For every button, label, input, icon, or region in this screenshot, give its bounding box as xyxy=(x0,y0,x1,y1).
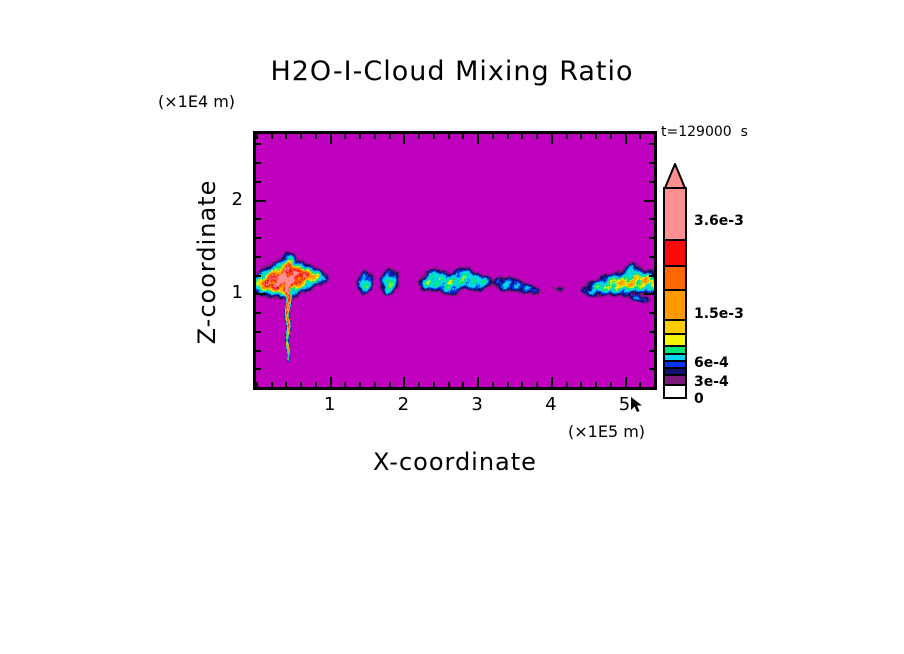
tick-mark xyxy=(639,134,641,139)
colorbar-segment xyxy=(665,362,685,369)
tick-mark xyxy=(330,134,332,144)
tick-mark xyxy=(256,143,261,145)
colorbar-segment xyxy=(665,291,685,321)
tick-mark xyxy=(595,134,597,139)
tick-mark xyxy=(359,382,361,387)
tick-mark xyxy=(649,237,654,239)
tick-mark xyxy=(580,382,582,387)
contour-field-canvas xyxy=(256,134,654,387)
tick-mark xyxy=(285,134,287,139)
tick-mark xyxy=(344,382,346,387)
colorbar-segment xyxy=(665,369,685,376)
tick-mark xyxy=(649,143,654,145)
colorbar-segment xyxy=(665,335,685,347)
tick-mark xyxy=(285,382,287,387)
tick-mark xyxy=(374,134,376,139)
tick-mark xyxy=(649,162,654,164)
tick-mark xyxy=(492,134,494,139)
tick-mark xyxy=(649,275,654,277)
timestamp-label: t=129000 s xyxy=(661,124,748,140)
tick-mark xyxy=(610,382,612,387)
colorbar-segment xyxy=(665,347,685,355)
tick-mark xyxy=(256,134,258,139)
x-tick-label: 4 xyxy=(536,394,566,415)
tick-mark xyxy=(433,382,435,387)
tick-mark xyxy=(389,134,391,139)
tick-mark xyxy=(521,134,523,139)
colorbar-segment xyxy=(665,321,685,335)
tick-mark xyxy=(649,331,654,333)
x-tick-label: 3 xyxy=(462,394,492,415)
tick-mark xyxy=(649,387,654,389)
colorbar-label: 1.5e-3 xyxy=(694,307,744,321)
colorbar-label: 3.6e-3 xyxy=(694,214,744,228)
tick-mark xyxy=(256,275,261,277)
y-axis-title: Z-coordinate xyxy=(193,52,221,472)
colorbar-label: 3e-4 xyxy=(694,375,729,389)
tick-mark xyxy=(374,382,376,387)
tick-mark xyxy=(256,162,261,164)
tick-mark xyxy=(403,134,405,144)
tick-mark xyxy=(256,218,261,220)
colorbar-segment xyxy=(665,241,685,267)
tick-mark xyxy=(625,377,627,387)
tick-mark xyxy=(639,382,641,387)
x-tick-label: 2 xyxy=(388,394,418,415)
tick-mark xyxy=(649,181,654,183)
tick-mark xyxy=(580,134,582,139)
tick-mark xyxy=(462,134,464,139)
tick-mark xyxy=(315,382,317,387)
tick-mark xyxy=(256,181,261,183)
tick-mark xyxy=(536,382,538,387)
tick-mark xyxy=(256,256,261,258)
tick-mark xyxy=(644,200,654,202)
tick-mark xyxy=(536,134,538,139)
tick-mark xyxy=(551,134,553,144)
tick-mark xyxy=(649,368,654,370)
tick-mark xyxy=(492,382,494,387)
tick-mark xyxy=(649,350,654,352)
tick-mark xyxy=(256,293,266,295)
tick-mark xyxy=(507,134,509,139)
colorbar-segment xyxy=(665,267,685,291)
tick-mark xyxy=(330,377,332,387)
tick-mark xyxy=(315,134,317,139)
colorbar-label: 6e-4 xyxy=(694,356,729,370)
tick-mark xyxy=(403,377,405,387)
tick-mark xyxy=(649,218,654,220)
colorbar-segment xyxy=(665,189,685,241)
tick-mark xyxy=(477,377,479,387)
tick-mark xyxy=(654,382,656,387)
tick-mark xyxy=(256,237,261,239)
tick-mark xyxy=(649,312,654,314)
tick-mark xyxy=(344,134,346,139)
tick-mark xyxy=(359,134,361,139)
tick-mark xyxy=(389,382,391,387)
tick-mark xyxy=(521,382,523,387)
mouse-cursor-icon xyxy=(630,396,646,414)
colorbar-label: 0 xyxy=(694,392,704,406)
tick-mark xyxy=(418,134,420,139)
x-axis-title: X-coordinate xyxy=(255,448,655,476)
tick-mark xyxy=(271,134,273,139)
tick-mark xyxy=(448,134,450,139)
colorbar-segment xyxy=(665,376,685,386)
tick-mark xyxy=(625,134,627,144)
tick-mark xyxy=(256,331,261,333)
tick-mark xyxy=(654,134,656,139)
tick-mark xyxy=(300,134,302,139)
tick-mark xyxy=(595,382,597,387)
colorbar-gradient xyxy=(663,187,687,399)
tick-mark xyxy=(566,382,568,387)
tick-mark xyxy=(477,134,479,144)
tick-mark xyxy=(256,350,261,352)
tick-mark xyxy=(433,134,435,139)
tick-mark xyxy=(418,382,420,387)
x-tick-label: 1 xyxy=(315,394,345,415)
tick-mark xyxy=(271,382,273,387)
colorbar-segment xyxy=(665,355,685,362)
tick-mark xyxy=(649,256,654,258)
tick-mark xyxy=(256,200,266,202)
tick-mark xyxy=(507,382,509,387)
page-title: H2O-I-Cloud Mixing Ratio xyxy=(0,56,904,87)
tick-mark xyxy=(256,368,261,370)
tick-mark xyxy=(300,382,302,387)
tick-mark xyxy=(551,377,553,387)
tick-mark xyxy=(462,382,464,387)
tick-mark xyxy=(566,134,568,139)
tick-mark xyxy=(256,312,261,314)
x-axis-unit-label: (×1E5 m) xyxy=(568,422,645,441)
figure-canvas: H2O-I-Cloud Mixing Ratio (×1E4 m) t=1290… xyxy=(0,0,904,654)
tick-mark xyxy=(644,293,654,295)
tick-mark xyxy=(610,134,612,139)
tick-mark xyxy=(448,382,450,387)
colorbar: 3.6e-31.5e-36e-43e-40 xyxy=(663,163,793,403)
colorbar-arrow-icon xyxy=(663,163,687,189)
contour-plot-area xyxy=(253,131,657,390)
tick-mark xyxy=(256,387,261,389)
